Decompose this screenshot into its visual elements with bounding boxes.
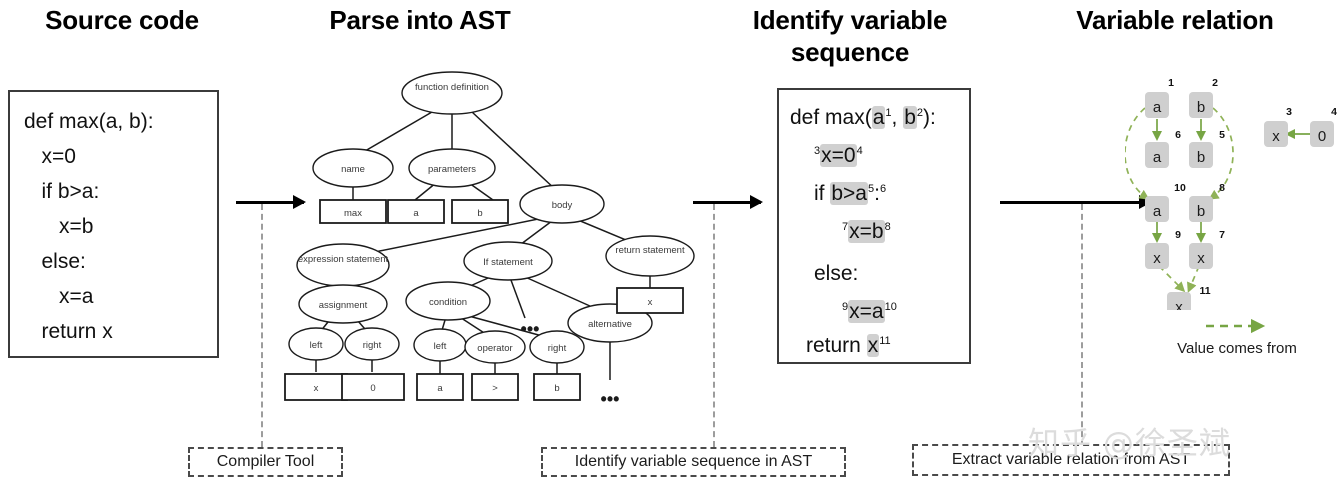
ast-node-condition: condition	[406, 282, 490, 320]
seq-token: a	[872, 106, 886, 129]
seq-line: 7x=b8	[842, 220, 891, 244]
source-code-line: x=a	[24, 279, 154, 314]
seq-token-index: 11	[879, 335, 890, 347]
ast-node-if-statement: If statement	[464, 242, 552, 280]
variable-relation-graph: a 1 b 2 a 6 b 5 a 10 b 8 x	[1125, 70, 1340, 310]
source-code-line: return x	[24, 314, 154, 349]
relation-node-index: 4	[1331, 106, 1337, 118]
relation-node-index: 11	[1199, 285, 1210, 297]
relation-node-index: 8	[1219, 182, 1225, 194]
diagram-canvas: Source code Parse into AST Identify vari…	[0, 0, 1340, 487]
relation-node-index: 3	[1286, 106, 1292, 118]
ast-leaf-label: a	[437, 383, 443, 394]
relation-node-index: 5	[1219, 129, 1225, 141]
ast-tree-graphic: function definition name parameters body…	[280, 60, 710, 420]
source-code-line: if b>a:	[24, 174, 154, 209]
ast-leaf-label: 0	[370, 383, 375, 394]
ast-node-label: function definition	[415, 82, 489, 93]
seq-token: b>a	[830, 182, 868, 205]
ast-leaf-x: x	[285, 374, 347, 400]
ast-node-parameters: parameters	[409, 149, 495, 187]
ast-leaf-label: x	[314, 383, 319, 394]
seq-text: else:	[814, 262, 858, 285]
relation-node-index: 1	[1168, 77, 1174, 89]
relation-node-index: 2	[1212, 77, 1218, 89]
ast-node-label: expression statement	[298, 254, 389, 265]
connector-line-identify-sequence	[713, 204, 715, 447]
seq-token: x=b	[848, 220, 884, 243]
relation-node-x-3: x 3	[1264, 106, 1292, 147]
ast-ellipsis-alternative-children: •••	[601, 389, 620, 409]
relation-node-label: 0	[1318, 128, 1326, 145]
ast-leaf-max: max	[320, 200, 386, 223]
relation-node-x-9: x 9	[1145, 229, 1181, 269]
source-code-line: x=b	[24, 209, 154, 244]
legend-label: Value comes from	[1152, 340, 1322, 357]
seq-token: x	[867, 334, 880, 357]
ast-leaf-label: a	[413, 208, 419, 219]
ast-node-label: assignment	[319, 300, 368, 311]
seq-token: b	[903, 106, 917, 129]
relation-node-index: 9	[1175, 229, 1181, 241]
seq-line: def max(a1, b2):	[790, 106, 936, 130]
ast-leaf-label: b	[477, 208, 482, 219]
ast-node-label: left	[434, 341, 447, 352]
ast-leaf-0: 0	[342, 374, 404, 400]
ast-leaf-label: b	[554, 383, 559, 394]
relation-node-label: a	[1153, 203, 1162, 220]
source-code-line: def max(a, b):	[24, 104, 154, 139]
ast-node-expression-statement: expression statement	[297, 244, 389, 286]
caption-compiler-tool: Compiler Tool	[188, 447, 343, 477]
caption-identify-variable-sequence-in-ast: Identify variable sequence in AST	[541, 447, 846, 477]
relation-node-label: b	[1197, 149, 1205, 166]
ast-node-assign-right: right	[345, 328, 399, 360]
column-title-source-code: Source code	[2, 4, 242, 36]
column-title-variable-relation: Variable relation	[1010, 4, 1340, 36]
ast-node-label: left	[310, 340, 323, 351]
relation-node-index: 6	[1175, 129, 1181, 141]
seq-text: ):	[923, 106, 936, 129]
watermark: 知乎 @徐圣斌	[1028, 418, 1231, 463]
seq-line: if b>a5:6	[814, 182, 886, 206]
ast-node-function-definition: function definition	[402, 72, 502, 114]
relation-node-b-5: b 5	[1189, 129, 1225, 168]
connector-line-extract-relation	[1081, 204, 1083, 447]
ast-node-label: name	[341, 164, 365, 175]
relation-node-label: b	[1197, 99, 1205, 116]
ast-leaf-label: x	[648, 297, 653, 308]
ast-node-label: If statement	[483, 257, 533, 268]
relation-node-label: x	[1153, 250, 1161, 267]
seq-line: 3x=04	[814, 144, 863, 168]
ast-node-label: return statement	[615, 245, 685, 256]
relation-node-label: a	[1153, 149, 1162, 166]
relation-node-index: 7	[1219, 229, 1225, 241]
relation-node-b-8: b 8	[1189, 182, 1225, 222]
relation-node-label: b	[1197, 203, 1205, 220]
variable-sequence-code: def max(a1, b2): 3x=04 if b>a5:6 7x=b8 e…	[786, 96, 966, 358]
relation-node-label: x	[1272, 128, 1280, 145]
seq-line: return x11	[806, 334, 891, 358]
ast-node-cond-operator: operator	[465, 331, 525, 363]
seq-token-index: 6	[880, 183, 886, 195]
ast-node-name: name	[313, 149, 393, 187]
ast-leaf-a: a	[417, 374, 463, 400]
ast-node-label: right	[548, 343, 567, 354]
relation-node-a-10: a 10	[1145, 182, 1186, 222]
relation-node-a-6: a 6	[1145, 129, 1181, 168]
seq-token: x=0	[820, 144, 856, 167]
relation-node-label: x	[1197, 250, 1205, 267]
source-code-box: def max(a, b): x=0 if b>a: x=b else: x=a…	[8, 90, 219, 358]
ast-node-cond-left: left	[414, 329, 466, 361]
ast-leaf-param-b: b	[452, 200, 508, 223]
ast-node-body: body	[520, 185, 604, 223]
ast-ellipsis-if-children: •••	[521, 319, 540, 339]
ast-leaf-operator-gt: >	[472, 374, 518, 400]
ast-node-label: alternative	[588, 319, 632, 330]
ast-node-label: parameters	[428, 164, 476, 175]
relation-node-label: a	[1153, 99, 1162, 116]
seq-text: ,	[892, 106, 904, 129]
seq-line: 9x=a10	[842, 300, 897, 324]
ast-node-label: condition	[429, 297, 467, 308]
ast-leaf-b: b	[534, 374, 580, 400]
ast-node-return-statement: return statement	[606, 236, 694, 276]
ast-node-label: body	[552, 200, 573, 211]
seq-text: if	[814, 182, 830, 205]
relation-node-0-4: 0 4	[1310, 106, 1337, 147]
relation-legend: Value comes from	[1152, 318, 1322, 357]
legend-dashed-arrow-icon	[1152, 318, 1322, 334]
column-title-parse-into-ast: Parse into AST	[250, 4, 590, 36]
relation-node-b-2: b 2	[1189, 77, 1218, 118]
seq-text: def max(	[790, 106, 872, 129]
ast-node-assign-left: left	[289, 328, 343, 360]
connector-line-compiler-tool	[261, 204, 263, 447]
relation-node-label: x	[1175, 299, 1183, 310]
ast-node-label: operator	[477, 343, 512, 354]
relation-node-index: 10	[1174, 182, 1186, 194]
seq-line: else:	[814, 262, 858, 286]
source-code-line: else:	[24, 244, 154, 279]
seq-token-index: 8	[885, 221, 891, 233]
ast-leaf-param-a: a	[388, 200, 444, 223]
source-code-text: def max(a, b): x=0 if b>a: x=b else: x=a…	[24, 104, 154, 349]
seq-token-index: 10	[885, 301, 897, 313]
ast-node-label: right	[363, 340, 382, 351]
relation-node-a-1: a 1	[1145, 77, 1174, 118]
relation-node-x-7: x 7	[1189, 229, 1225, 269]
ast-leaf-return-x: x	[617, 288, 683, 313]
ast-leaf-label: >	[492, 383, 498, 394]
seq-text: return	[806, 334, 867, 357]
seq-token-index: 4	[857, 145, 863, 157]
source-code-line: x=0	[24, 139, 154, 174]
seq-token: x=a	[848, 300, 884, 323]
column-title-identify-variable-sequence: Identify variable sequence	[700, 4, 1000, 68]
ast-leaf-label: max	[344, 208, 362, 219]
ast-node-assignment: assignment	[299, 285, 387, 323]
